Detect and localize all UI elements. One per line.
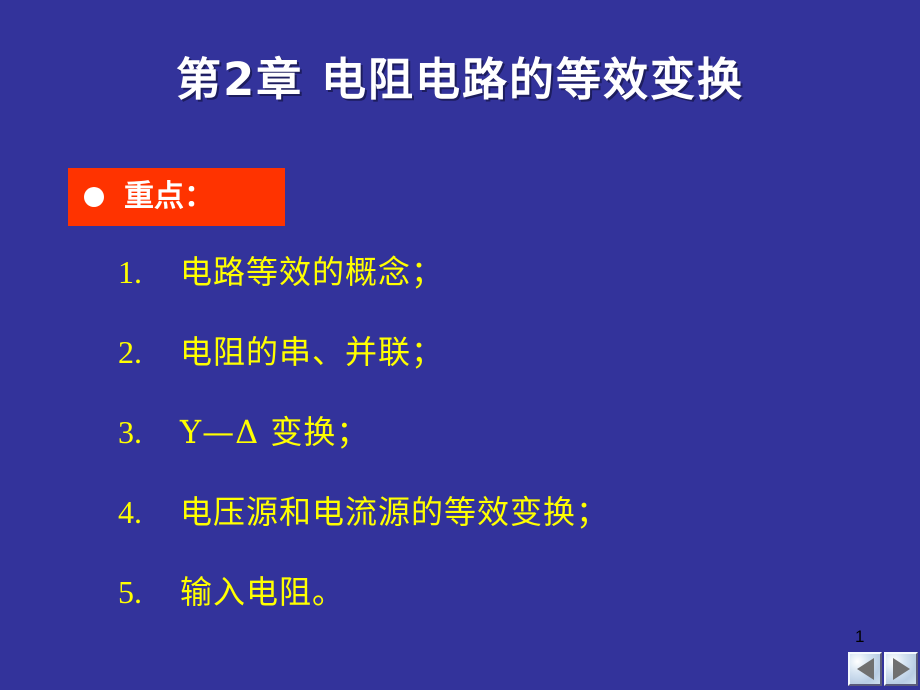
list-item-label: 电路等效的概念； [180, 256, 878, 288]
list-item: 3. Y—Δ 变换； [118, 416, 878, 496]
previous-slide-button[interactable] [848, 652, 882, 686]
list-item-label: 电阻的串、并联； [180, 336, 878, 368]
list-item: 2. 电阻的串、并联； [118, 336, 878, 416]
page-number: 1 [855, 628, 864, 645]
list-item: 5. 输入电阻。 [118, 576, 878, 656]
list-item-number: 5. [118, 576, 180, 608]
list-item-number: 4. [118, 496, 180, 528]
list-item-label: 输入电阻。 [180, 576, 878, 608]
topic-list: 1. 电路等效的概念； 2. 电阻的串、并联； 3. Y—Δ 变换； 4. 电压… [118, 256, 878, 656]
slide-canvas: 第2章 电阻电路的等效变换 重点： 1. 电路等效的概念； 2. 电阻的串、并联… [0, 0, 920, 690]
list-item-label: 电压源和电流源的等效变换； [180, 496, 878, 528]
keypoints-callout-box: 重点： [68, 168, 285, 226]
triangle-right-icon [893, 658, 910, 680]
next-slide-button[interactable] [884, 652, 918, 686]
list-item-label: Y—Δ 变换； [180, 416, 878, 448]
list-item-number: 2. [118, 336, 180, 368]
list-item: 4. 电压源和电流源的等效变换； [118, 496, 878, 576]
slide-navigation [848, 652, 918, 686]
list-item: 1. 电路等效的概念； [118, 256, 878, 336]
list-item-number: 3. [118, 416, 180, 448]
keypoints-label: 重点： [124, 182, 214, 212]
triangle-left-icon [857, 658, 874, 680]
list-item-number: 1. [118, 256, 180, 288]
filled-circle-bullet-icon [84, 187, 104, 207]
page-title: 第2章 电阻电路的等效变换 [0, 56, 920, 103]
